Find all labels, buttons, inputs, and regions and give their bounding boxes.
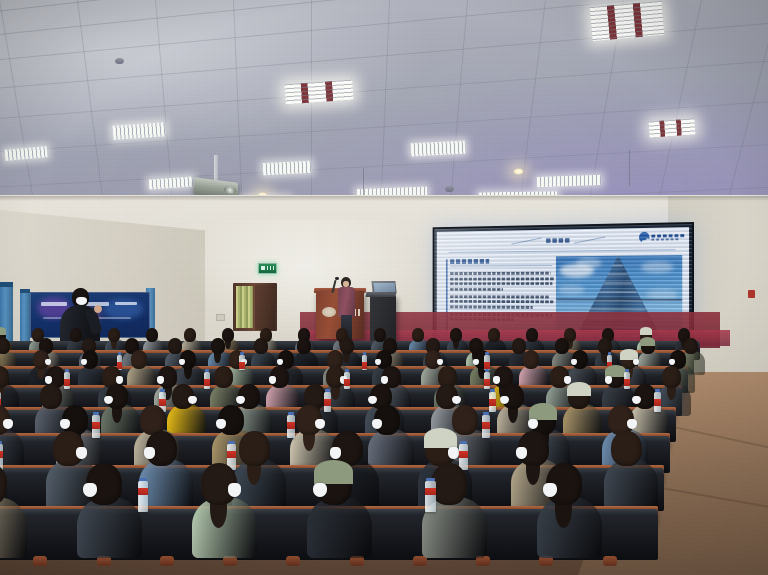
seat-armrest: [413, 556, 427, 566]
cap: [314, 460, 353, 484]
face-mask: [381, 376, 388, 383]
face-mask: [76, 297, 87, 305]
wall-fire-alarm-plate: [748, 290, 755, 298]
face-mask: [543, 483, 557, 497]
ceiling-light-panel: [263, 161, 312, 175]
slide-paragraph: [450, 295, 556, 309]
ccb-logo-wordmark: [651, 234, 684, 240]
head: [40, 384, 62, 410]
ceiling-light-troffer: [649, 118, 696, 137]
face-mask: [500, 396, 508, 405]
ceiling-light-troffer: [590, 1, 665, 41]
face-mask: [633, 359, 639, 365]
presenter-torso: [338, 287, 355, 317]
conference-hall-photo: Wide interior photo of a large auditoriu…: [0, 0, 768, 575]
torso: [77, 497, 141, 559]
bottle-cap: [485, 352, 489, 355]
bottle-cap: [160, 389, 165, 392]
hand: [94, 305, 102, 313]
bottle-cap: [65, 369, 69, 372]
slide-divider: [448, 249, 675, 253]
face-mask: [493, 376, 500, 383]
bottle-cap: [240, 352, 244, 355]
head: [412, 328, 424, 342]
wall-switch-plate[interactable]: [216, 314, 225, 321]
cap: [567, 382, 591, 396]
bottle-cap: [485, 369, 489, 372]
slide-heading-text: [450, 259, 489, 264]
wall-ceiling-shadow: [0, 196, 768, 201]
exit-runner-glyph: [261, 266, 265, 270]
bottle-cap: [0, 441, 2, 444]
cap: [529, 403, 557, 420]
face-mask: [372, 419, 382, 429]
bottle-label: [92, 422, 100, 429]
head: [611, 431, 642, 466]
audience-member: [86, 463, 162, 569]
cap: [0, 327, 6, 335]
face-mask: [452, 396, 460, 405]
cap: [424, 428, 457, 448]
face-mask: [330, 447, 342, 459]
bottle-cap: [490, 389, 495, 392]
slide-title-rule-right: [574, 236, 605, 243]
face-mask: [83, 483, 97, 497]
projector-mount-pole: [214, 155, 218, 181]
bottle-cap: [426, 478, 434, 481]
bottle-cap: [655, 389, 660, 392]
cap: [640, 337, 655, 346]
face-mask: [564, 376, 571, 383]
audience-member: [316, 463, 392, 569]
bottle-label: [0, 451, 3, 458]
water-bottle: [624, 372, 630, 390]
face-mask: [605, 376, 612, 383]
emergency-exit-sign: [258, 263, 277, 274]
slide-title-text: [546, 238, 569, 243]
face-mask: [157, 376, 164, 383]
water-bottle: [484, 355, 490, 371]
china-construction-bank-logo: [639, 231, 684, 243]
face-mask: [144, 447, 156, 459]
face-mask: [104, 396, 112, 405]
face-mask: [368, 396, 376, 405]
bottle-cap: [483, 412, 489, 415]
projector-lens: [224, 186, 236, 194]
ccb-logo-mark-icon: [639, 232, 649, 243]
face-mask: [269, 376, 276, 383]
audience-member: [201, 463, 277, 569]
head: [431, 463, 467, 505]
bottle-cap: [93, 412, 99, 415]
audience-member: [0, 463, 46, 569]
head: [239, 431, 270, 466]
bottle-label: [459, 451, 468, 458]
face-mask: [116, 376, 123, 383]
ceiling-grid-line: [0, 139, 768, 195]
ceiling-hanger-wire: [363, 168, 364, 196]
exit-label-glyph: [267, 266, 274, 270]
banner-text-line: [115, 302, 137, 305]
audience-member: [546, 463, 622, 569]
door-curtain: [236, 286, 253, 328]
face-mask: [313, 483, 327, 497]
face-mask: [3, 419, 13, 429]
cap: [620, 349, 638, 360]
face-mask: [216, 419, 226, 429]
bottle-cap: [228, 441, 235, 444]
torso: [307, 497, 371, 559]
ceiling-hanger-wire: [629, 150, 630, 186]
bottle-cap: [118, 352, 122, 355]
cap: [640, 327, 653, 335]
seat-armrest: [160, 556, 174, 566]
face-mask: [632, 396, 640, 405]
wall-pillar-cap: [0, 282, 13, 287]
face-mask: [228, 483, 242, 497]
face-mask: [315, 419, 325, 429]
slide-title-rule-left: [512, 237, 542, 244]
bottle-cap: [288, 412, 294, 415]
face-mask: [236, 396, 244, 405]
slide-paragraph: [450, 272, 556, 291]
slide-heading-rule: [450, 265, 552, 267]
ccb-logo-english-text: [651, 238, 680, 240]
torso: [0, 497, 27, 559]
bottle-label: [482, 422, 490, 429]
face-mask: [76, 447, 88, 459]
ccb-logo-chinese-text: [651, 234, 684, 238]
bottle-cap: [625, 369, 629, 372]
bottle-label: [138, 488, 148, 495]
smoke-detector: [115, 58, 124, 64]
bottle-label: [227, 451, 236, 458]
bottle-cap: [345, 369, 349, 372]
bottle-cap: [139, 478, 147, 481]
smoke-detector: [445, 186, 454, 192]
bottle-label: [624, 379, 630, 386]
water-bottle: [138, 481, 148, 512]
face-mask: [45, 359, 51, 365]
bottle-cap: [205, 369, 209, 372]
bottle-cap: [325, 389, 330, 392]
bottle-cap: [608, 352, 612, 355]
seat-armrest: [286, 556, 300, 566]
face-mask: [188, 396, 196, 405]
water-bottle: [425, 481, 435, 512]
bottle-label: [484, 362, 490, 369]
bottle-label: [484, 379, 490, 386]
face-mask: [448, 447, 460, 459]
presenter-laptop-screen: [373, 283, 395, 292]
face-mask: [528, 419, 538, 429]
head: [70, 328, 82, 342]
door-panel: [255, 285, 275, 330]
bottle-cap: [460, 441, 467, 444]
presenter-laptop[interactable]: [371, 281, 396, 293]
face-mask: [60, 419, 70, 429]
face-mask: [437, 359, 443, 365]
podium-emblem: [322, 307, 336, 317]
water-bottle: [484, 372, 490, 390]
cap: [605, 365, 625, 377]
face-mask: [627, 419, 637, 429]
wall-pillar-cap: [20, 289, 30, 293]
bottle-cap: [363, 352, 367, 355]
audience-member: [431, 463, 507, 569]
face-mask: [516, 447, 528, 459]
bottle-label: [287, 422, 295, 429]
face-mask: [45, 376, 52, 383]
bottle-label: [425, 488, 435, 495]
slide-title: [512, 237, 606, 243]
